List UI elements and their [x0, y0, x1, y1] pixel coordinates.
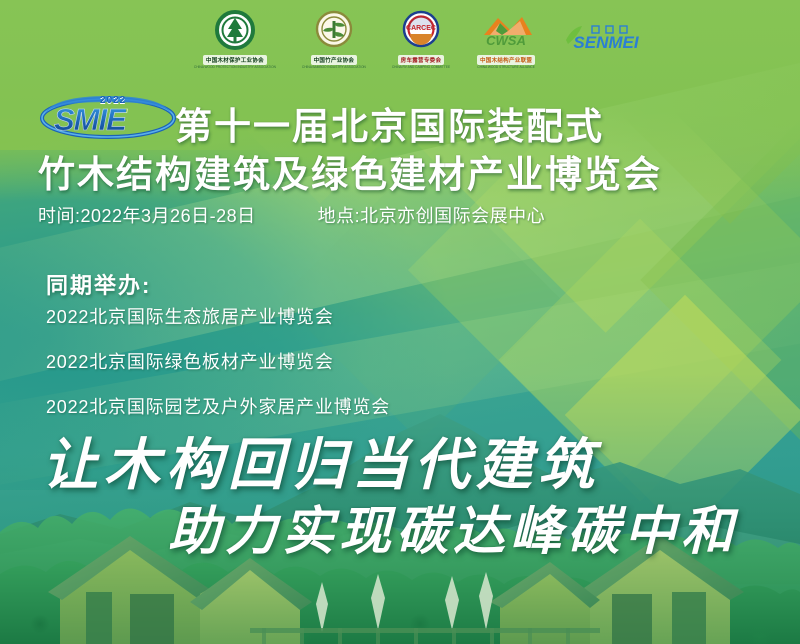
svg-text:SENMEI: SENMEI [573, 33, 639, 52]
concurrent-events-list: 2022北京国际生态旅居产业博览会 2022北京国际绿色板材产业博览会 2022… [46, 303, 390, 419]
logo-sub-bamboo-association: CHINA BAMBOO INDUSTRY ASSOCIATION [302, 65, 366, 69]
list-item: 2022北京国际生态旅居产业博览会 [46, 303, 390, 329]
page-title-line-2: 竹木结构建筑及绿色建材产业博览会 [38, 144, 662, 198]
senmei-logo: SENMEI [562, 22, 646, 56]
logo-sub-carcec: CHINA RV AND CAMPING COMMITTEE [392, 65, 450, 69]
organizer-logos-strip: 中国木材保护工业协会 CHINA WOOD PROTECTION INDUSTR… [0, 0, 800, 78]
logo-label-carcec: 房车露营专委会 [398, 55, 445, 65]
cwsa-china-wood-structure-alliance-logo: CWSA [476, 9, 536, 53]
slogan-line-2: 助力实现碳达峰碳中和 [168, 489, 738, 564]
list-item: 2022北京国际绿色板材产业博览会 [46, 348, 390, 374]
svg-text:CARCEC: CARCEC [406, 25, 436, 32]
smie-logo: 2022 SMIE [38, 92, 178, 142]
svg-text:CWSA: CWSA [486, 33, 526, 48]
logo-label-cwsa: 中国木结构产业联盟 [477, 55, 535, 65]
event-venue: 地点:北京亦创国际会展中心 [318, 202, 546, 228]
logo-sub-cwsa: CHINA WOOD STRUCTURE ALLIANCE [477, 65, 535, 69]
logo-china-wood-protection: 中国木材保护工业协会 CHINA WOOD PROTECTION INDUSTR… [194, 9, 276, 69]
logo-label-china-wood-protection: 中国木材保护工业协会 [203, 55, 267, 65]
logo-cwsa: CWSA 中国木结构产业联盟 CHINA WOOD STRUCTURE ALLI… [476, 9, 536, 69]
bamboo-association-logo [310, 9, 358, 53]
logo-senmei: SENMEI [562, 22, 646, 56]
page-title-line-1: 第十一届北京国际装配式 [175, 96, 604, 150]
concurrent-events-heading: 同期举办: [46, 268, 151, 300]
expo-poster: 中国木材保护工业协会 CHINA WOOD PROTECTION INDUSTR… [0, 0, 800, 644]
logo-carcec: CARCEC 房车露营专委会 CHINA RV AND CAMPING COMM… [392, 9, 450, 69]
list-item: 2022北京国际园艺及户外家居产业博览会 [46, 393, 390, 419]
logo-bamboo-association: 中国竹产业协会 CHINA BAMBOO INDUSTRY ASSOCIATIO… [302, 9, 366, 69]
smie-wordmark: SMIE [54, 102, 126, 138]
logo-sub-china-wood-protection: CHINA WOOD PROTECTION INDUSTRY ASSOCIATI… [194, 65, 276, 69]
event-date: 时间:2022年3月26日-28日 [38, 202, 256, 228]
china-wood-protection-industry-association-logo [208, 9, 262, 53]
carcec-rv-camping-committee-logo: CARCEC [397, 9, 445, 53]
logo-label-bamboo-association: 中国竹产业协会 [311, 55, 358, 65]
event-meta-row: 时间:2022年3月26日-28日 地点:北京亦创国际会展中心 [38, 202, 738, 228]
